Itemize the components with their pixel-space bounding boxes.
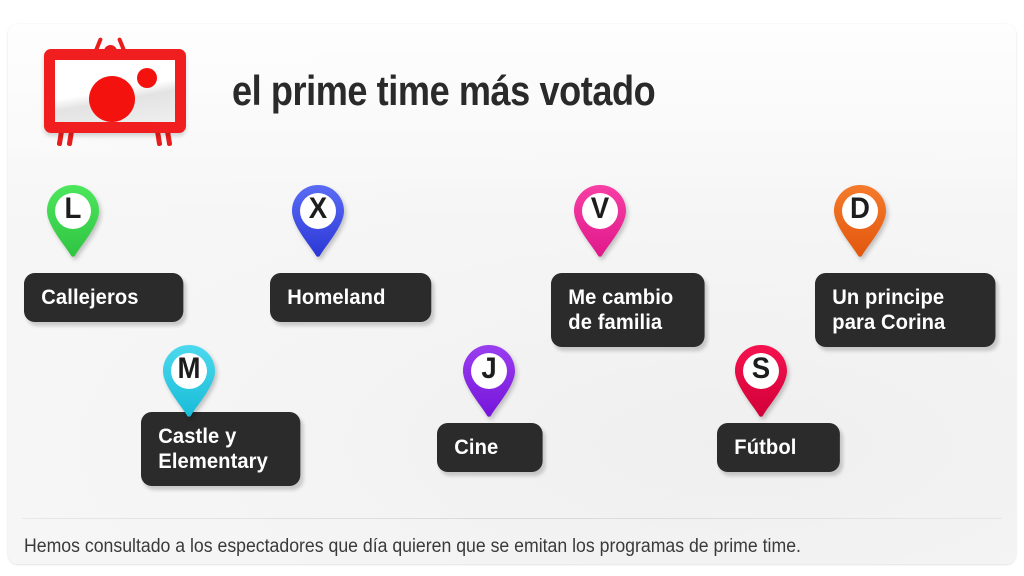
pin-letter: X — [291, 190, 344, 228]
program-label-chip[interactable]: Cine — [437, 423, 543, 472]
pin-letter: L — [46, 190, 99, 228]
program-label-chip[interactable]: Homeland — [270, 273, 431, 322]
map-pin-s[interactable]: S — [732, 344, 790, 418]
page-title: el prime time más votado — [232, 70, 655, 112]
map-pin-j[interactable]: J — [460, 344, 518, 418]
pin-letter: J — [462, 350, 515, 388]
program-label-chip[interactable]: Castle y Elementary — [141, 412, 300, 486]
infographic-stage: el prime time más votado CallejerosLHome… — [0, 0, 1024, 576]
content-panel: el prime time más votado CallejerosLHome… — [8, 24, 1016, 564]
map-pin-d[interactable]: D — [831, 184, 889, 258]
tv-icon — [30, 29, 190, 154]
pin-letter: S — [734, 350, 787, 388]
pin-letter: V — [573, 190, 626, 228]
header: el prime time más votado — [30, 26, 724, 156]
map-pin-v[interactable]: V — [571, 184, 629, 258]
tv-screen — [44, 49, 186, 133]
program-label-chip[interactable]: Un principe para Corina — [815, 273, 995, 347]
pin-letter: M — [162, 350, 215, 388]
map-pin-x[interactable]: X — [289, 184, 347, 258]
map-pin-m[interactable]: M — [160, 344, 218, 418]
program-label-chip[interactable]: Fútbol — [717, 423, 840, 472]
tv-dot-large-icon — [89, 76, 135, 122]
map-pin-l[interactable]: L — [44, 184, 102, 258]
program-label-chip[interactable]: Me cambio de familia — [551, 273, 705, 347]
tv-dot-small-icon — [137, 68, 157, 88]
footer-divider — [22, 518, 1002, 519]
program-label-chip[interactable]: Callejeros — [24, 273, 183, 322]
pin-letter: D — [833, 190, 886, 228]
footer-note: Hemos consultado a los espectadores que … — [24, 536, 801, 558]
